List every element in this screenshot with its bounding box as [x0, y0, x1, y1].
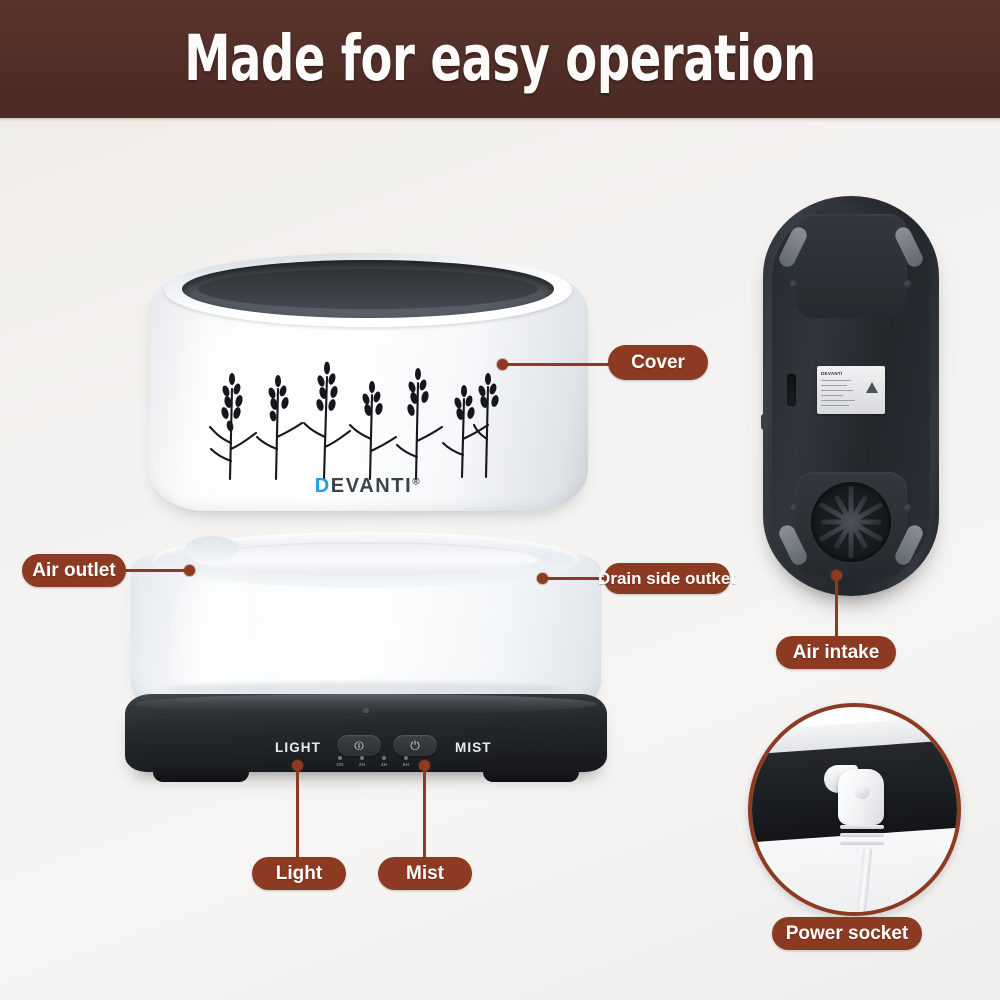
- timer-mark-6h: 6H: [399, 756, 413, 767]
- banner-divider: [0, 118, 1000, 123]
- mist-control-label: MIST: [455, 740, 492, 755]
- light-callout-line: [296, 766, 299, 860]
- lavender-pattern: [206, 331, 516, 481]
- timer-dot: [338, 756, 342, 760]
- warning-triangle-icon: [866, 382, 878, 393]
- brand-logo-d: D: [315, 475, 331, 497]
- underside-pad-top: [795, 214, 907, 318]
- timer-mark-label: ON: [333, 762, 347, 767]
- header-banner: Made for easy operation: [0, 0, 1000, 118]
- plug-bump: [854, 785, 870, 799]
- timer-dot: [404, 756, 408, 760]
- infographic-page: Made for easy operation: [0, 0, 1000, 1000]
- product-water-tank: [131, 532, 601, 710]
- rating-label-brand: DEVANTI: [821, 371, 843, 376]
- callout-light[interactable]: Light: [252, 857, 346, 890]
- brand-logo-rest: EVANTI: [331, 475, 412, 497]
- tank-highlight: [171, 582, 261, 692]
- tank-air-outlet-notch: [185, 536, 239, 562]
- light-power-button[interactable]: ⏼: [337, 735, 381, 756]
- status-led: [363, 708, 369, 713]
- power-socket-photo-inset: [748, 703, 961, 916]
- page-title: Made for easy operation: [90, 26, 910, 92]
- power-icon-light: ⏼: [353, 739, 366, 752]
- plug-rib-3: [840, 841, 884, 845]
- timer-mark-label: 2H: [355, 762, 369, 767]
- power-icon-mist: ⏻: [409, 739, 422, 752]
- callout-air-outlet[interactable]: Air outlet: [22, 554, 126, 587]
- screw-bl: [790, 504, 798, 512]
- timer-mark-label: 6H: [399, 762, 413, 767]
- callout-mist[interactable]: Mist: [378, 857, 472, 890]
- product-base: LIGHT ⏼ ⏻ MIST ON 2H 4H 6H: [125, 694, 607, 786]
- mist-power-button[interactable]: ⏻: [393, 735, 437, 756]
- timer-mark-on: ON: [333, 756, 347, 767]
- callout-air-intake[interactable]: Air intake: [776, 636, 896, 669]
- timer-mark-4h: 4H: [377, 756, 391, 767]
- mist-callout-line: [423, 766, 426, 860]
- rating-label: DEVANTI: [817, 366, 885, 414]
- air-outlet-callout-line: [124, 569, 190, 572]
- callout-power-socket[interactable]: Power socket: [772, 917, 922, 950]
- cover-opening: [182, 260, 554, 318]
- plug-rib-2: [840, 833, 884, 837]
- air-intake-callout-line: [835, 576, 838, 638]
- screw-br: [904, 504, 912, 512]
- timer-mark-label: 4H: [377, 762, 391, 767]
- drain-slot: [787, 374, 796, 406]
- air-intake-vent: [811, 482, 891, 562]
- base-foot-left: [153, 766, 249, 782]
- screw-tl: [790, 280, 798, 288]
- tank-lid: [193, 542, 539, 576]
- air-outlet-callout-dot: [184, 565, 195, 576]
- callout-drain-side-outket[interactable]: Drain side outket: [604, 563, 730, 594]
- timer-mark-2h: 2H: [355, 756, 369, 767]
- timer-dot: [382, 756, 386, 760]
- plug-rib-1: [840, 825, 884, 829]
- cover-opening-inner: [198, 269, 538, 309]
- brand-logo: DEVANTI®: [148, 475, 588, 498]
- base-foot-right: [483, 766, 579, 782]
- cover-callout-line: [505, 363, 615, 366]
- light-control-label: LIGHT: [275, 740, 321, 755]
- product-underside-view: DEVANTI: [763, 196, 939, 596]
- screw-tr: [904, 280, 912, 288]
- product-cover: DEVANTI®: [148, 253, 588, 511]
- timer-dot: [360, 756, 364, 760]
- callout-cover[interactable]: Cover: [608, 345, 708, 380]
- registered-mark: ®: [412, 476, 421, 487]
- timer-indicator-row: ON 2H 4H 6H: [333, 756, 413, 767]
- side-nub: [761, 414, 768, 430]
